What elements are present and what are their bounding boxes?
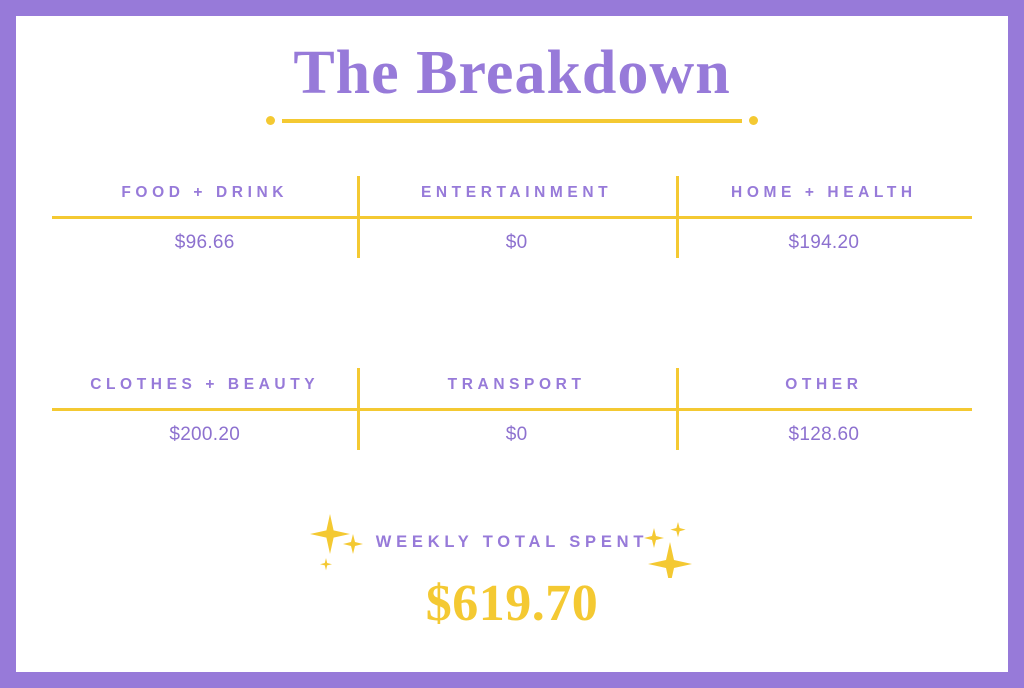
category-value: $128.60 bbox=[788, 424, 859, 446]
dot-right-icon bbox=[749, 116, 758, 125]
row-divider-2 bbox=[676, 368, 679, 450]
row-divider-2 bbox=[676, 176, 679, 258]
row-divider-1 bbox=[357, 176, 360, 258]
total-label-row: WEEKLY TOTAL SPENT bbox=[376, 506, 649, 578]
title-divider bbox=[16, 116, 1008, 125]
total-section: WEEKLY TOTAL SPENT $619.70 bbox=[16, 506, 1008, 632]
category-label: ENTERTAINMENT bbox=[421, 174, 612, 212]
category-row: FOOD + DRINK $96.66 ENTERTAINMENT $0 HOM… bbox=[52, 174, 972, 264]
category-value: $0 bbox=[506, 232, 528, 254]
page-title: The Breakdown bbox=[16, 40, 1008, 106]
category-cell-clothes-beauty: CLOTHES + BEAUTY $200.20 bbox=[52, 366, 357, 456]
category-value: $0 bbox=[506, 424, 528, 446]
row-horizontal-rule bbox=[52, 408, 972, 411]
category-cell-home-health: HOME + HEALTH $194.20 bbox=[676, 174, 972, 264]
sparkle-cluster-left-icon bbox=[298, 506, 388, 578]
category-cell-transport: TRANSPORT $0 bbox=[357, 366, 675, 456]
category-label: TRANSPORT bbox=[448, 366, 586, 404]
title-rule-line bbox=[282, 119, 742, 123]
total-label: WEEKLY TOTAL SPENT bbox=[376, 533, 649, 552]
category-cell-entertainment: ENTERTAINMENT $0 bbox=[357, 174, 675, 264]
row-horizontal-rule bbox=[52, 216, 972, 219]
poster-frame: The Breakdown FOOD + DRINK $96.66 ENTERT… bbox=[0, 0, 1024, 688]
category-label: FOOD + DRINK bbox=[121, 174, 288, 212]
category-label: HOME + HEALTH bbox=[731, 174, 917, 212]
category-cell-food-drink: FOOD + DRINK $96.66 bbox=[52, 174, 357, 264]
poster-canvas: The Breakdown FOOD + DRINK $96.66 ENTERT… bbox=[16, 16, 1008, 672]
category-value: $194.20 bbox=[788, 232, 859, 254]
category-value: $96.66 bbox=[175, 232, 235, 254]
category-row: CLOTHES + BEAUTY $200.20 TRANSPORT $0 OT… bbox=[52, 366, 972, 456]
category-grid: CLOTHES + BEAUTY $200.20 TRANSPORT $0 OT… bbox=[52, 366, 972, 456]
category-cell-other: OTHER $128.60 bbox=[676, 366, 972, 456]
category-label: OTHER bbox=[785, 366, 862, 404]
header: The Breakdown bbox=[16, 40, 1008, 125]
dot-left-icon bbox=[266, 116, 275, 125]
total-amount: $619.70 bbox=[16, 576, 1008, 632]
category-grid: FOOD + DRINK $96.66 ENTERTAINMENT $0 HOM… bbox=[52, 174, 972, 264]
category-value: $200.20 bbox=[169, 424, 240, 446]
row-divider-1 bbox=[357, 368, 360, 450]
category-label: CLOTHES + BEAUTY bbox=[90, 366, 319, 404]
